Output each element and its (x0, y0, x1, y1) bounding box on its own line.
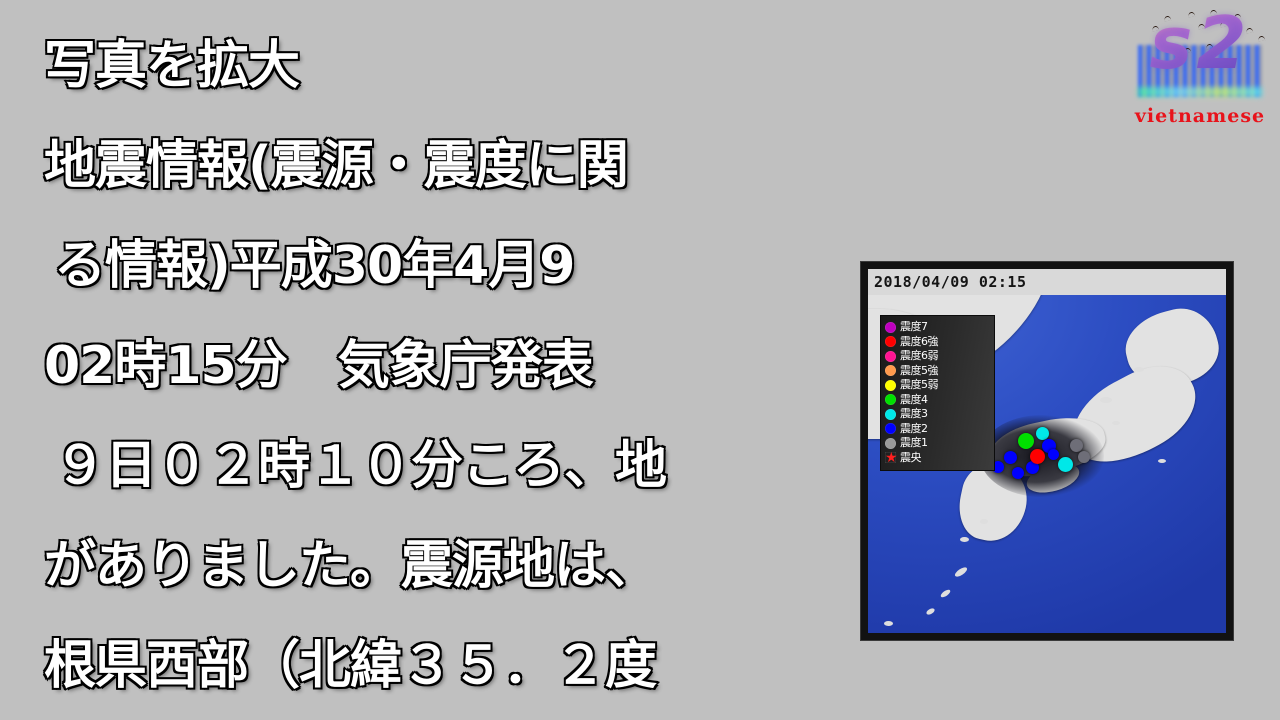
intensity-dot (1030, 449, 1045, 464)
legend-label: 震央 (900, 452, 921, 464)
legend-swatch-icon (885, 423, 896, 434)
logo-wordmark: s2 (1124, 6, 1276, 80)
intensity-dot (1078, 451, 1090, 463)
caption-line-4: 02時15分 気象庁発表 (44, 316, 744, 416)
legend-swatch-icon (885, 380, 896, 391)
islet (1100, 397, 1112, 403)
legend-swatch-icon (885, 322, 896, 333)
intensity-dot (1012, 467, 1024, 479)
legend-label: 震度4 (900, 394, 928, 406)
legend-row: 震度6強 (885, 335, 991, 350)
legend-label: 震度6強 (900, 336, 938, 348)
legend-swatch-icon (885, 409, 896, 420)
map-canvas: 震度7震度6強震度6弱震度5強震度5弱震度4震度3震度2震度1★震央 2018/… (868, 269, 1226, 633)
caption-line-3: る情報)平成30年4月9 (44, 216, 744, 316)
legend-row: 震度4 (885, 393, 991, 408)
intensity-dot (1048, 449, 1059, 460)
legend-swatch-icon (885, 394, 896, 405)
channel-logo: s2 vietnamese (1124, 2, 1276, 134)
legend-row: 震度5弱 (885, 378, 991, 393)
legend-label: 震度5強 (900, 365, 938, 377)
caption-line-1: 写真を拡大 (44, 16, 744, 116)
legend-row: ★震央 (885, 451, 991, 466)
intensity-dot (1036, 427, 1049, 440)
intensity-dot (1058, 457, 1073, 472)
legend-label: 震度3 (900, 408, 928, 420)
legend-label: 震度1 (900, 437, 928, 449)
legend-label: 震度7 (900, 321, 928, 333)
logo-caption: vietnamese (1124, 105, 1276, 127)
legend-swatch-icon (885, 438, 896, 449)
intensity-dot (1070, 439, 1083, 452)
caption-line-6: がありました。震源地は、 (44, 516, 744, 616)
legend-row: 震度3 (885, 407, 991, 422)
legend-swatch-icon (885, 336, 896, 347)
logo-mark: s2 (1124, 2, 1276, 107)
epicenter-star-icon: ★ (885, 452, 896, 463)
video-frame: 写真を拡大 地震情報(震源・震度に関 る情報)平成30年4月9 02時15分 気… (0, 0, 1280, 720)
intensity-dot-cluster (986, 421, 1098, 491)
islet (1112, 421, 1120, 425)
earthquake-intensity-map[interactable]: 震度7震度6強震度6弱震度5強震度5弱震度4震度3震度2震度1★震央 2018/… (861, 262, 1233, 640)
legend-swatch-icon (885, 365, 896, 376)
caption-line-5: ９日０２時１０分ころ、地 (44, 416, 744, 516)
legend-row: 震度6弱 (885, 349, 991, 364)
legend-swatch-icon (885, 351, 896, 362)
legend-row: 震度1 (885, 436, 991, 451)
caption-block: 写真を拡大 地震情報(震源・震度に関 る情報)平成30年4月9 02時15分 気… (44, 16, 744, 716)
islet (1134, 367, 1144, 372)
caption-line-2: 地震情報(震源・震度に関 (44, 116, 744, 216)
legend-label: 震度5弱 (900, 379, 938, 391)
intensity-legend: 震度7震度6強震度6弱震度5強震度5弱震度4震度3震度2震度1★震央 (880, 315, 995, 471)
legend-label: 震度2 (900, 423, 928, 435)
legend-row: 震度5強 (885, 364, 991, 379)
islet (1158, 459, 1166, 463)
legend-label: 震度6弱 (900, 350, 938, 362)
islet (980, 519, 988, 524)
caption-line-7: 根県西部（北緯３５．２度 (44, 616, 744, 716)
islet (884, 621, 893, 626)
legend-row: 震度7 (885, 320, 991, 335)
map-timestamp: 2018/04/09 02:15 (874, 273, 1027, 291)
islet (960, 537, 969, 542)
intensity-dot (1018, 433, 1034, 449)
intensity-dot (1004, 451, 1017, 464)
legend-row: 震度2 (885, 422, 991, 437)
